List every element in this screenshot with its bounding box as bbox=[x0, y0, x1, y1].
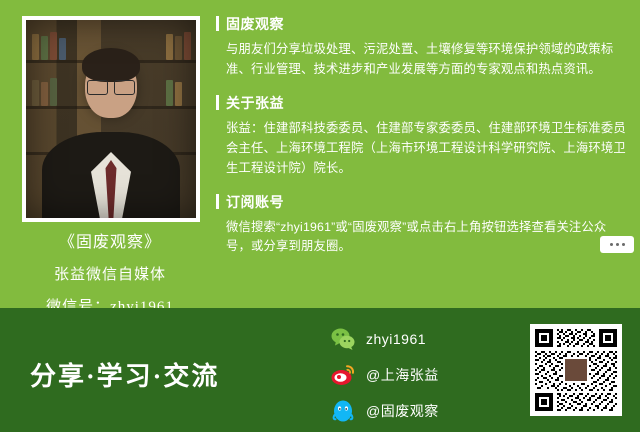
section-subscribe: 订阅账号 微信搜索“zhyi1961”或“固废观察”或点击右上角按钮选择查看关注… bbox=[216, 192, 626, 258]
contact-qq: @固废观察 bbox=[330, 396, 439, 426]
section-body: 张益：住建部科技委委员、住建部专家委委员、住建部环境卫生标准委员会主任、上海环境… bbox=[226, 119, 626, 179]
footer-contacts: zhyi1961 @上海张益 bbox=[330, 324, 439, 432]
qq-icon bbox=[330, 398, 356, 424]
section-guanfei-guancha: 固废观察 与朋友们分享垃圾处理、污泥处置、土壤修复等环境保护领域的政策标准、行业… bbox=[216, 14, 626, 80]
contact-value: @固废观察 bbox=[366, 401, 439, 421]
section-body: 与朋友们分享垃圾处理、污泥处置、土壤修复等环境保护领域的政策标准、行业管理、技术… bbox=[226, 40, 626, 80]
portrait-caption: 《固废观察》 张益微信自媒体 微信号：zhyi1961 bbox=[10, 228, 210, 316]
dot-icon bbox=[622, 243, 625, 246]
weibo-icon bbox=[330, 362, 356, 388]
footer-slogan: 分享·学习·交流 bbox=[30, 356, 219, 393]
dot-icon bbox=[616, 243, 619, 246]
section-accent-bar bbox=[216, 194, 219, 209]
section-title: 订阅账号 bbox=[226, 192, 626, 212]
section-title: 关于张益 bbox=[226, 93, 626, 113]
contact-wechat: zhyi1961 bbox=[330, 324, 439, 354]
caption-line-1: 《固废观察》 bbox=[10, 228, 210, 252]
wechat-icon bbox=[330, 326, 356, 352]
caption-line-2: 张益微信自媒体 bbox=[10, 263, 210, 284]
top-section: 《固废观察》 张益微信自媒体 微信号：zhyi1961 固废观察 与朋友们分享垃… bbox=[0, 0, 640, 308]
info-sections: 固废观察 与朋友们分享垃圾处理、污泥处置、土壤修复等环境保护领域的政策标准、行业… bbox=[216, 14, 626, 270]
contact-value: @上海张益 bbox=[366, 365, 439, 385]
section-body: 微信搜索“zhyi1961”或“固废观察”或点击右上角按钮选择查看关注公众号，或… bbox=[226, 218, 626, 258]
contact-weibo: @上海张益 bbox=[330, 360, 439, 390]
portrait-frame bbox=[22, 16, 200, 222]
qr-center-avatar bbox=[563, 357, 589, 383]
poster: 《固废观察》 张益微信自媒体 微信号：zhyi1961 固废观察 与朋友们分享垃… bbox=[0, 0, 640, 432]
portrait-image bbox=[26, 20, 196, 218]
wechat-qr-code bbox=[530, 324, 622, 416]
more-options-button[interactable] bbox=[600, 236, 634, 253]
contact-value: zhyi1961 bbox=[366, 331, 426, 347]
section-accent-bar bbox=[216, 16, 219, 31]
portrait-vignette bbox=[26, 20, 196, 218]
dot-icon bbox=[610, 243, 613, 246]
section-title: 固废观察 bbox=[226, 14, 626, 34]
section-about-zhangyi: 关于张益 张益：住建部科技委委员、住建部专家委委员、住建部环境卫生标准委员会主任… bbox=[216, 93, 626, 179]
section-accent-bar bbox=[216, 95, 219, 110]
footer-section: 分享·学习·交流 zhyi1961 bbox=[0, 308, 640, 432]
